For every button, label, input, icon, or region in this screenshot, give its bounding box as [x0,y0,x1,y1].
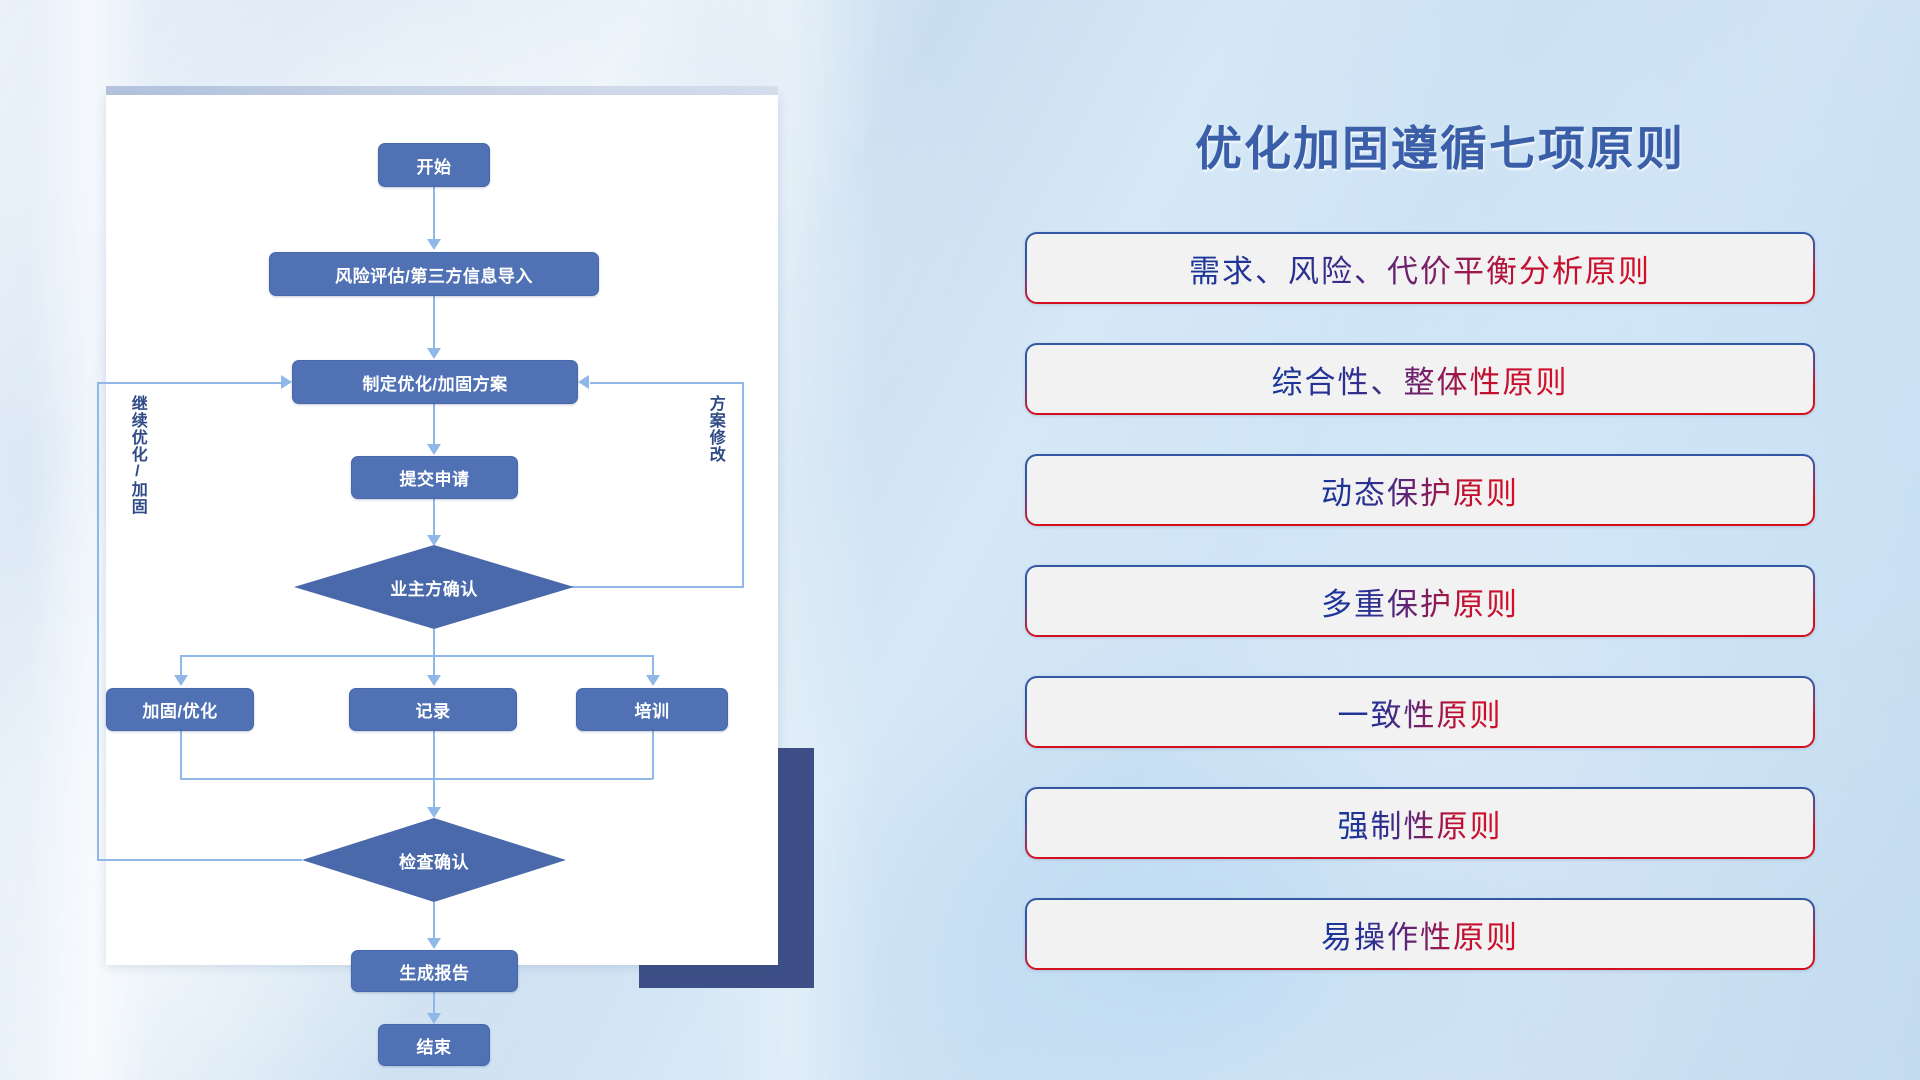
loop-right-top [590,382,744,384]
flow-node-label: 检查确认 [302,818,566,902]
principle-label: 需求、风险、代价平衡分析原则 [1189,246,1651,291]
principle-item-7[interactable]: 易操作性原则 [1025,898,1815,970]
flowchart-card: 开始 风险评估/第三方信息导入 制定优化/加固方案 提交申请 [106,95,778,965]
flow-node-start[interactable]: 开始 [378,143,490,187]
principle-item-1[interactable]: 需求、风险、代价平衡分析原则 [1025,232,1815,304]
loop-left-bottom [97,859,302,861]
principles-list: 需求、风险、代价平衡分析原则 综合性、整体性原则 动态保护原则 多重保护原则 一… [1025,232,1815,1009]
arrowhead-train [646,675,660,686]
loop-left-label: 继续优化/加固 [128,395,145,585]
principle-item-4[interactable]: 多重保护原则 [1025,565,1815,637]
page-title: 优化加固遵循七项原则 [1030,110,1850,179]
principle-item-2[interactable]: 综合性、整体性原则 [1025,343,1815,415]
flow-node-label: 加固/优化 [142,697,217,722]
arrowhead-plan-from-right-loop [578,375,589,389]
connector-plan-to-submit [433,404,435,449]
flow-node-end[interactable]: 结束 [378,1024,490,1066]
connector-owner-down [433,629,435,657]
flow-node-label: 风险评估/第三方信息导入 [335,262,533,287]
principle-label: 动态保护原则 [1321,468,1519,513]
flow-node-label: 记录 [416,697,451,722]
connector-merge-bus [180,778,653,780]
loop-left-vertical [97,382,99,860]
principle-item-3[interactable]: 动态保护原则 [1025,454,1815,526]
flow-node-training[interactable]: 培训 [576,688,728,731]
connector-record-down [433,731,435,813]
flow-decision-check-confirm[interactable]: 检查确认 [302,818,566,902]
loop-right-label: 方案修改 [706,395,723,545]
flow-node-label: 生成报告 [400,959,470,984]
flow-node-report[interactable]: 生成报告 [351,950,518,992]
loop-left-top [97,382,283,384]
principle-label: 强制性原则 [1338,801,1503,846]
flow-node-submit[interactable]: 提交申请 [351,456,518,499]
principle-label: 易操作性原则 [1321,912,1519,957]
arrowhead-risk [427,239,441,250]
arrowhead-report [427,938,441,949]
arrowhead-submit [427,444,441,455]
principle-item-6[interactable]: 强制性原则 [1025,787,1815,859]
flowchart: 开始 风险评估/第三方信息导入 制定优化/加固方案 提交申请 [106,95,778,965]
flow-node-plan[interactable]: 制定优化/加固方案 [292,360,578,404]
connector-branch-bus [180,655,653,657]
principle-label: 一致性原则 [1338,690,1503,735]
connector-start-to-risk [433,187,435,245]
loop-right-bottom [572,586,744,588]
arrowhead-end [427,1013,441,1024]
arrowhead-record [427,675,441,686]
slide-canvas: 开始 风险评估/第三方信息导入 制定优化/加固方案 提交申请 [0,0,1920,1080]
arrowhead-plan [427,348,441,359]
flow-node-label: 提交申请 [400,465,470,490]
connector-risk-to-plan [433,296,435,354]
flow-node-reinforce[interactable]: 加固/优化 [106,688,254,731]
principle-label: 多重保护原则 [1321,579,1519,624]
flow-decision-owner-confirm[interactable]: 业主方确认 [294,545,574,629]
flow-node-label: 制定优化/加固方案 [362,370,507,395]
loop-right-vertical [742,382,744,587]
flow-node-record[interactable]: 记录 [349,688,517,731]
flow-node-label: 业主方确认 [294,545,574,629]
connector-train-down [652,731,654,779]
flow-node-risk-assessment[interactable]: 风险评估/第三方信息导入 [269,252,599,296]
principle-item-5[interactable]: 一致性原则 [1025,676,1815,748]
arrowhead-reinforce [174,675,188,686]
arrowhead-plan-from-left-loop [281,375,292,389]
arrowhead-check-decision [427,807,441,818]
flow-node-label: 培训 [635,697,670,722]
flow-node-label: 开始 [417,153,452,178]
principle-label: 综合性、整体性原则 [1272,357,1569,402]
flow-node-label: 结束 [417,1033,452,1058]
connector-reinforce-down [180,731,182,779]
